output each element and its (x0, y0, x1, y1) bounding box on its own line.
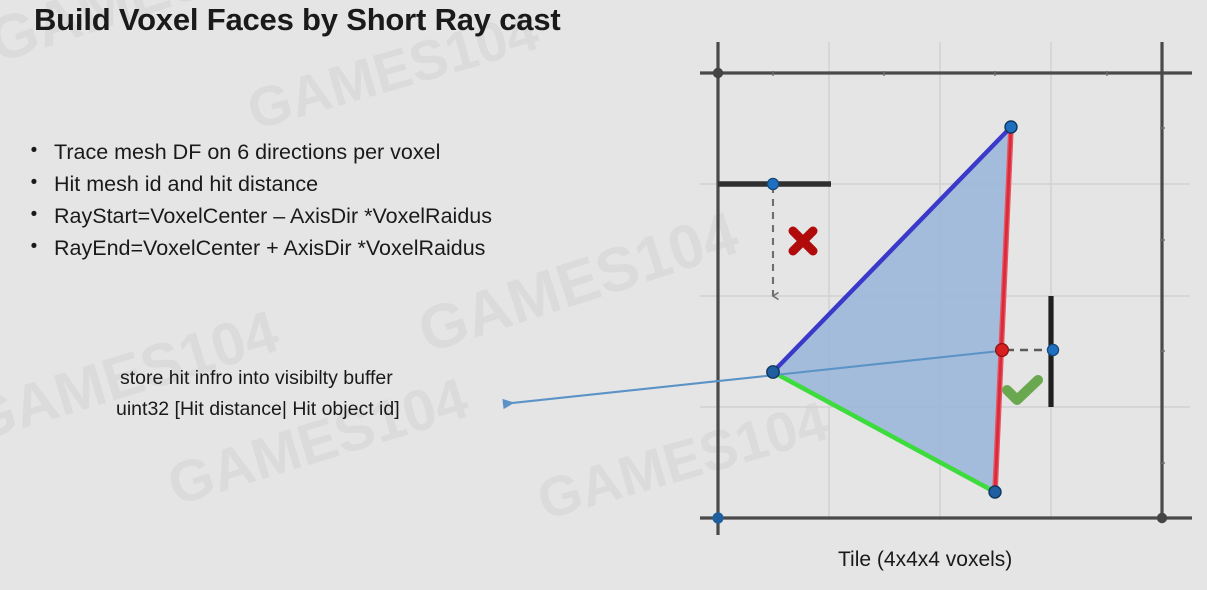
list-item-label: RayEnd=VoxelCenter + AxisDir *VoxelRaidu… (54, 232, 485, 264)
miss-cross-icon (793, 231, 813, 251)
tile-border (700, 42, 1192, 535)
note-line-2: uint32 [Hit distance| Hit object id] (116, 394, 400, 425)
list-item: • Hit mesh id and hit distance (14, 168, 654, 200)
list-item: • Trace mesh DF on 6 directions per voxe… (14, 136, 654, 168)
bullet-point-icon: • (14, 136, 54, 166)
triangle-edge-blue (773, 127, 1011, 372)
hit-point-dot (996, 344, 1009, 357)
triangle-vertex-left-dot (767, 366, 779, 378)
bullet-point-icon: • (14, 168, 54, 198)
tile-corner-bottom-left-dot (712, 512, 723, 523)
list-item-label: RayStart=VoxelCenter – AxisDir *VoxelRai… (54, 200, 492, 232)
hit-face-center-dot (1047, 344, 1058, 355)
list-item-label: Hit mesh id and hit distance (54, 168, 318, 200)
triangle-vertex-bottom-dot (989, 486, 1001, 498)
bullet-point-icon: • (14, 200, 54, 230)
miss-ray-start-dot (767, 178, 778, 189)
hit-check-icon (1007, 380, 1038, 400)
diagram-caption: Tile (4x4x4 voxels) (838, 548, 1012, 572)
bullet-point-icon: • (14, 232, 54, 262)
list-item-label: Trace mesh DF on 6 directions per voxel (54, 136, 440, 168)
axis-ticks (773, 71, 1165, 463)
triangle-edge-green (773, 372, 995, 492)
visibility-buffer-ray (503, 351, 1000, 404)
triangle-edge-red (995, 127, 1011, 492)
tile-corner-bottom-right-dot (1157, 513, 1167, 523)
note-line-1: store hit infro into visibilty buffer (120, 363, 400, 394)
page-title: Build Voxel Faces by Short Ray cast (34, 2, 561, 38)
voxel-raycast-diagram (0, 0, 1207, 590)
triangle-edge-red-core (995, 127, 1011, 492)
list-item: • RayEnd=VoxelCenter + AxisDir *VoxelRai… (14, 232, 654, 264)
visibility-buffer-note: store hit infro into visibilty buffer ui… (120, 363, 400, 425)
mesh-triangle (773, 127, 1011, 492)
list-item: • RayStart=VoxelCenter – AxisDir *VoxelR… (14, 200, 654, 232)
watermark-layer: GAMES104 GAMES104 GAMES104 GAMES104 GAME… (0, 0, 1207, 590)
grid-lines (700, 42, 1190, 520)
triangle-vertex-top-dot (1005, 121, 1017, 133)
bullet-list: • Trace mesh DF on 6 directions per voxe… (14, 136, 654, 264)
tile-corner-top-left-dot (713, 68, 723, 78)
watermark-text: GAMES104 (530, 388, 835, 533)
